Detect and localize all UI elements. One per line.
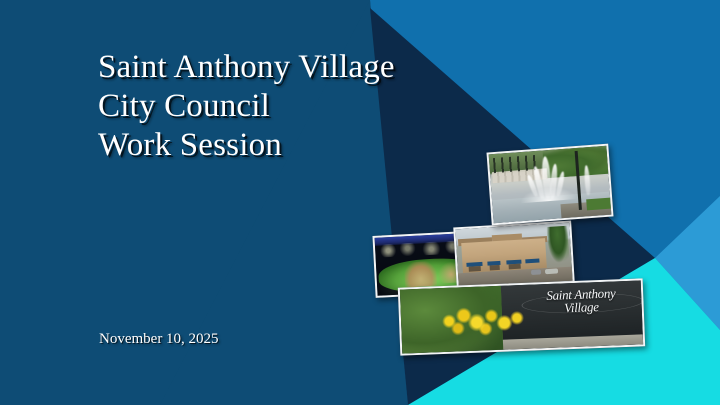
slide-title: Saint Anthony Village City Council Work …	[98, 48, 518, 165]
title-line-1: Saint Anthony Village	[98, 48, 518, 87]
title-line-2: City Council	[98, 87, 518, 126]
photo-building: Tan commercial building with blue awning…	[453, 221, 574, 290]
slide-date: November 10, 2025	[99, 330, 219, 349]
photo-monument-sign: Saint Anthony Village Saint Anthony Vill…	[398, 278, 645, 355]
title-line-3: Work Session	[98, 126, 518, 165]
fountain-grass	[587, 198, 611, 211]
sign-yellow-flowers	[429, 302, 536, 343]
presentation-slide: Saint Anthony Village City Council Work …	[0, 0, 720, 405]
photo-building-image	[455, 223, 572, 288]
building-awning-4	[526, 259, 540, 264]
sign-lettering: Saint Anthony Village	[525, 286, 637, 317]
building-palm-tree	[547, 226, 570, 263]
photo-monument-sign-image: Saint Anthony Village	[400, 280, 643, 353]
